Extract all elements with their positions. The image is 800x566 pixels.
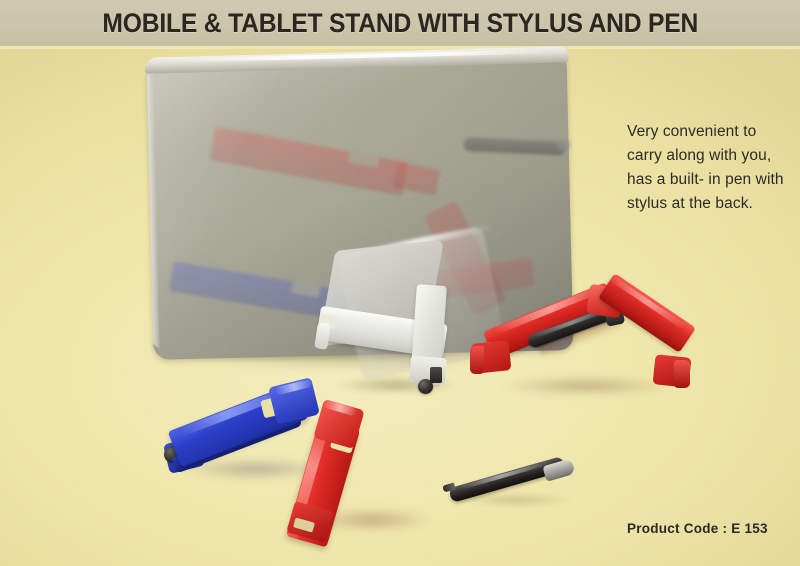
- white-stand-left-hook: [314, 322, 331, 350]
- red-tent-stand-product: [478, 282, 693, 397]
- white-stand-stylus-tip: [418, 379, 433, 394]
- white-stand-product: [318, 245, 468, 395]
- white-stand-hinge-slot: [430, 367, 442, 383]
- header-band: MOBILE & TABLET STAND WITH STYLUS AND PE…: [0, 0, 800, 46]
- product-code: Product Code : E 153: [627, 521, 768, 536]
- red-flat-stand-product: [296, 408, 446, 538]
- black-pen-product: [448, 456, 608, 508]
- page-title: MOBILE & TABLET STAND WITH STYLUS AND PE…: [102, 8, 698, 39]
- product-description: Very convenient to carry along with you,…: [627, 120, 795, 216]
- product-poster: MOBILE & TABLET STAND WITH STYLUS AND PE…: [0, 0, 800, 566]
- red-tent-left-hook: [470, 346, 484, 374]
- red-tent-right-hook: [674, 360, 690, 388]
